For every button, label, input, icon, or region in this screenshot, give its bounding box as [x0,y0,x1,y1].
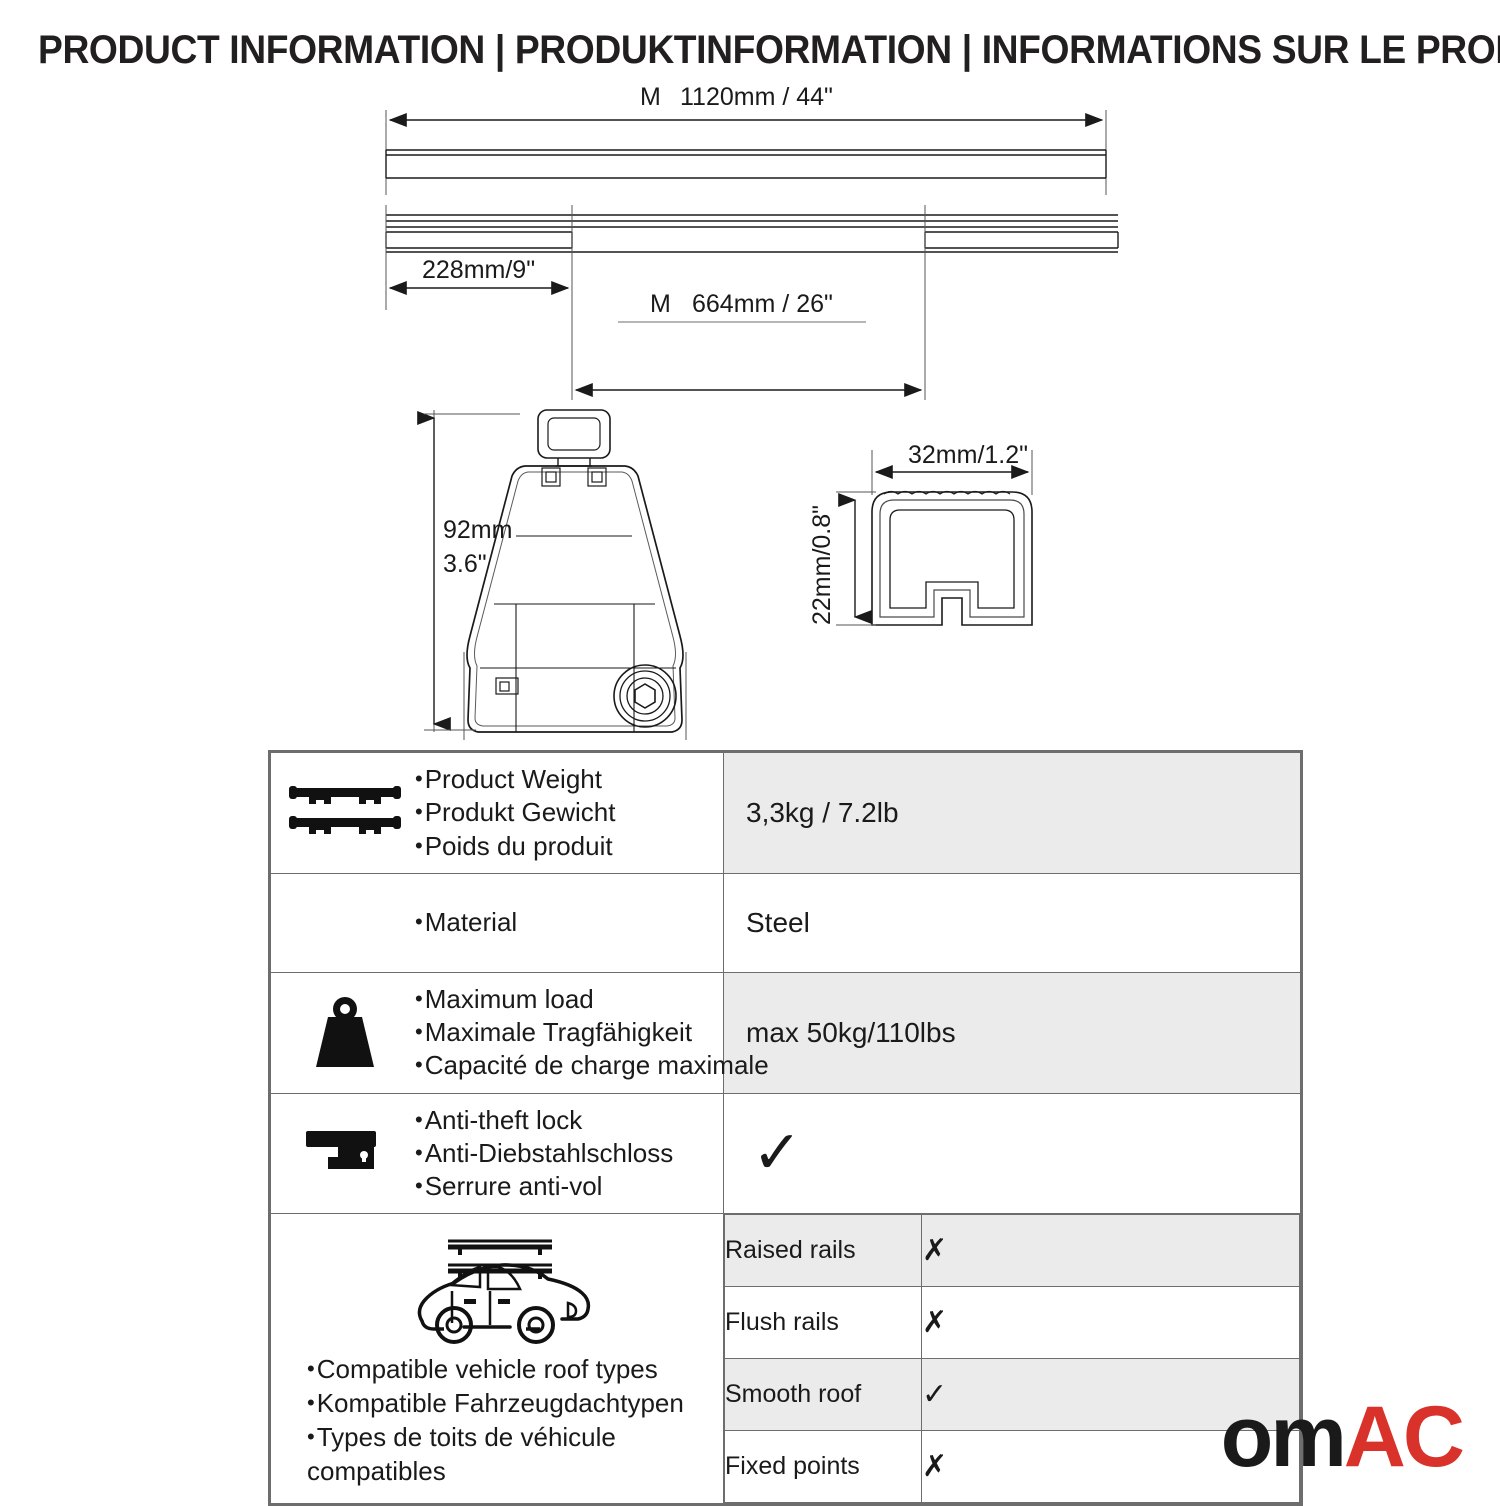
omac-logo: om AC [1221,1394,1462,1480]
compat-name: Fixed points [725,1431,922,1503]
label-line: Maximale Tragfähigkeit [415,1016,769,1049]
spread-value: 664mm / 26" [692,290,833,318]
row-label-text-group: Maximum load Maximale Tragfähigkeit Capa… [415,983,769,1083]
compat-mark: ✗ [922,1287,1300,1359]
label-line: Anti-theft lock [415,1104,673,1137]
row-label-text-group: Product Weight Produkt Gewicht Poids du … [415,763,615,863]
car-with-roofrack-icon [281,1229,713,1347]
table-row-material: Material Steel [271,873,1301,972]
row-value-maximum-load: max 50kg/110lbs [724,972,1301,1093]
compat-row-fixed-points: Fixed points ✗ [725,1431,1300,1503]
row-label-anti-theft-lock: Anti-theft lock Anti-Diebstahlschloss Se… [271,1093,724,1214]
row-value-anti-theft-lock: ✓ [724,1093,1301,1214]
compat-text-group: Compatible vehicle roof types Kompatible… [281,1353,713,1488]
crossbars-icon [285,782,405,844]
label-line: Serrure anti-vol [415,1170,673,1203]
cross-icon: ✗ [922,1233,947,1268]
profile-height-dimension: 22mm/0.8" [808,505,836,625]
label-line: Poids du produit [415,830,615,863]
label-line: Produkt Gewicht [415,796,615,829]
offset-dimension: 228mm/9" [422,256,535,284]
cross-icon: ✗ [922,1449,947,1484]
tower-height-line1: 92mm [443,516,512,544]
row-label-text-group: Anti-theft lock Anti-Diebstahlschloss Se… [415,1104,673,1204]
specification-table: Product Weight Produkt Gewicht Poids du … [268,750,1303,1506]
compat-name: Raised rails [725,1215,922,1287]
row-label-maximum-load: Maximum load Maximale Tragfähigkeit Capa… [271,972,724,1093]
label-line: Anti-Diebstahlschloss [415,1137,673,1170]
compat-name: Smooth roof [725,1359,922,1431]
compat-name: Flush rails [725,1287,922,1359]
bar-length-label: M [640,83,661,111]
table-row-anti-theft-lock: Anti-theft lock Anti-Diebstahlschloss Se… [271,1093,1301,1214]
label-line: Product Weight [415,763,615,796]
compat-row-smooth-roof: Smooth roof ✓ [725,1359,1300,1431]
page-header: PRODUCT INFORMATION | PRODUKTINFORMATION… [38,22,1468,78]
label-line: Maximum load [415,983,769,1016]
table-row-product-weight: Product Weight Produkt Gewicht Poids du … [271,753,1301,874]
bar-length-value: 1120mm / 44" [680,83,833,111]
check-mark: ✓ [746,1123,802,1183]
label-line: Capacité de charge maximale [415,1049,769,1082]
row-label-material: Material [271,873,724,972]
label-line: Compatible vehicle roof types [307,1353,709,1387]
logo-text-dark: om [1221,1394,1344,1480]
cross-icon: ✗ [922,1305,947,1340]
technical-drawing: M 1120mm / 44" 228mm/9" M 664mm / 26" 92… [0,80,1500,740]
compat-mark: ✗ [922,1215,1300,1287]
logo-text-red: AC [1344,1394,1462,1480]
label-line: Types de toits de véhicule compatibles [307,1421,709,1489]
compat-row-raised-rails: Raised rails ✗ [725,1215,1300,1287]
row-label-compatibility: Compatible vehicle roof types Kompatible… [271,1214,724,1504]
compat-row-flush-rails: Flush rails ✗ [725,1287,1300,1359]
weight-icon [285,995,405,1071]
row-value-product-weight: 3,3kg / 7.2lb [724,753,1301,874]
row-value-material: Steel [724,873,1301,972]
label-line: Kompatible Fahrzeugdachtypen [307,1387,709,1421]
page-title: PRODUCT INFORMATION | PRODUKTINFORMATION… [38,28,1500,73]
label-line: Material [415,906,517,939]
check-icon: ✓ [922,1377,947,1412]
table-row-maximum-load: Maximum load Maximale Tragfähigkeit Capa… [271,972,1301,1093]
row-label-product-weight: Product Weight Produkt Gewicht Poids du … [271,753,724,874]
profile-width-dimension: 32mm/1.2" [908,441,1028,469]
lock-icon [285,1123,405,1183]
spread-label: M [650,290,671,318]
row-label-text-group: Material [415,906,517,939]
tower-height-line2: 3.6" [443,550,487,578]
compatibility-matrix: Raised rails ✗ Flush rails ✗ Smooth roof… [724,1214,1301,1504]
table-row-compatibility: Compatible vehicle roof types Kompatible… [271,1214,1301,1504]
